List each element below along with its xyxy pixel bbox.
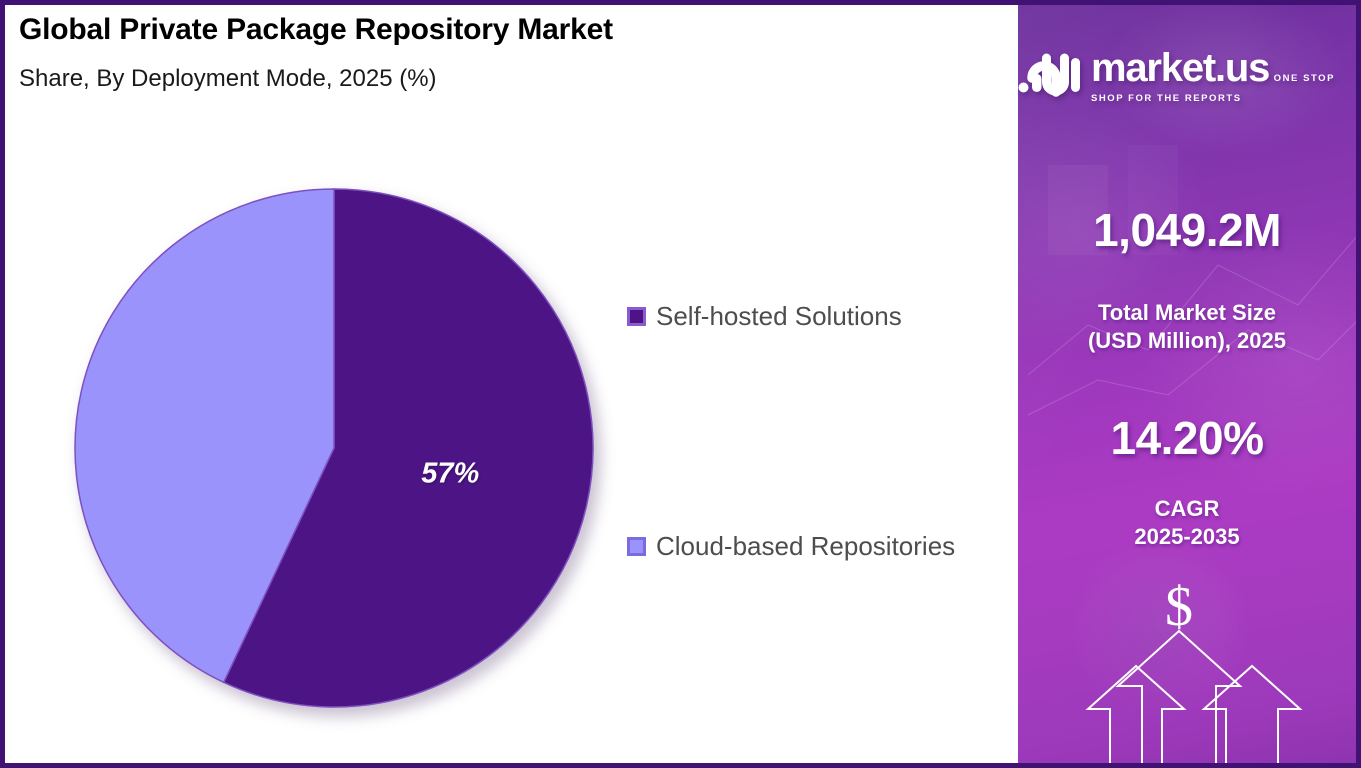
growth-arrows-icon: $ [1018, 563, 1361, 763]
brand-logo-text: market.us ONE STOP SHOP FOR THE REPORTS [1091, 49, 1356, 106]
chart-legend: Self-hosted Solutions Cloud-based Reposi… [627, 5, 1007, 768]
chart-card: Global Private Package Repository Market… [0, 0, 1018, 768]
brand-logo: market.us ONE STOP SHOP FOR THE REPORTS [1018, 49, 1356, 106]
dollar-sign-icon: $ [1165, 576, 1193, 638]
stats-side-panel: market.us ONE STOP SHOP FOR THE REPORTS … [1018, 0, 1361, 768]
legend-swatch-cloud-based-repositories [627, 537, 646, 556]
legend-swatch-self-hosted-solutions [627, 307, 646, 326]
brand-name: market.us [1091, 46, 1269, 90]
stat-caption-line2-cagr: 2025-2035 [1018, 523, 1356, 551]
stat-caption-line1-total-market-size: Total Market Size [1018, 299, 1356, 327]
stat-caption-cagr: CAGR 2025-2035 [1018, 495, 1356, 550]
legend-item-self-hosted-solutions[interactable]: Self-hosted Solutions [627, 303, 902, 329]
stat-caption-total-market-size: Total Market Size (USD Million), 2025 [1018, 299, 1356, 354]
stat-value-cagr: 14.20% [1018, 411, 1356, 465]
pie-chart: 57% [73, 187, 595, 709]
stat-caption-line1-cagr: CAGR [1018, 495, 1356, 523]
panel-content: market.us ONE STOP SHOP FOR THE REPORTS … [1018, 5, 1356, 763]
infographic-root: Global Private Package Repository Market… [0, 0, 1361, 768]
legend-label-cloud-based-repositories: Cloud-based Repositories [656, 533, 955, 559]
legend-item-cloud-based-repositories[interactable]: Cloud-based Repositories [627, 533, 955, 559]
stat-caption-line2-total-market-size: (USD Million), 2025 [1018, 327, 1356, 355]
legend-label-self-hosted-solutions: Self-hosted Solutions [656, 303, 902, 329]
pie-svg [73, 187, 595, 709]
stat-value-total-market-size: 1,049.2M [1018, 203, 1356, 257]
market-us-logo-icon [1018, 52, 1082, 103]
